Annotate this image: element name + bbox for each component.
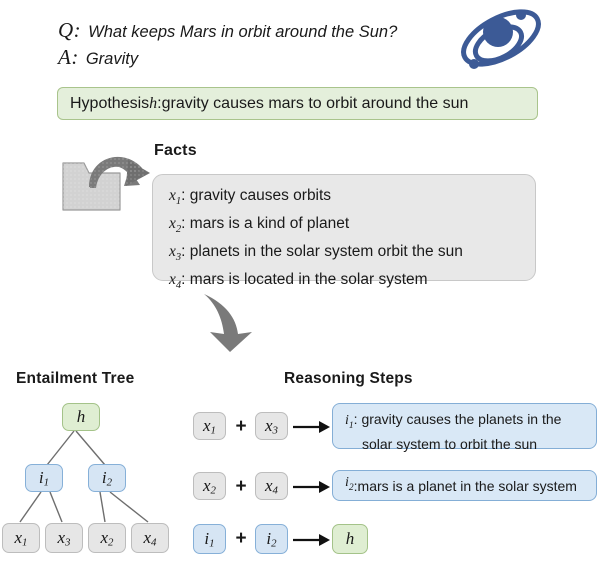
- step3-implies-arrow: [291, 525, 331, 555]
- step2-conclusion-box[interactable]: i2: mars is a planet in the solar system: [332, 470, 597, 501]
- tree-leaf-x2[interactable]: x2: [88, 523, 126, 553]
- fact-colon: :: [181, 187, 190, 204]
- fact-item: x3: planets in the solar system orbit th…: [169, 241, 535, 269]
- tree-node-label: x4: [144, 528, 157, 549]
- hypothesis-symbol: h: [149, 95, 157, 113]
- tree-node-label: x1: [15, 528, 28, 549]
- planet-orbit-icon: [458, 2, 544, 78]
- fact-symbol: x3: [169, 243, 181, 260]
- chip-label: i1: [204, 529, 214, 550]
- tree-leaf-x4[interactable]: x4: [131, 523, 169, 553]
- tree-node-label: x3: [58, 528, 71, 549]
- step1-conclusion-box[interactable]: i1: gravity causes the planets in the so…: [332, 403, 597, 449]
- answer-text: Gravity: [86, 50, 138, 69]
- fact-item: x2: mars is a kind of planet: [169, 213, 535, 241]
- hypothesis-box: Hypothesis h: gravity causes mars to orb…: [57, 87, 538, 120]
- step3-premise-1[interactable]: i1: [193, 524, 226, 554]
- conclusion-line2: solar system to orbit the sun: [345, 435, 586, 453]
- tree-leaf-x3[interactable]: x3: [45, 523, 83, 553]
- tree-node-label: h: [77, 407, 86, 427]
- question-tag: Q:: [58, 18, 81, 43]
- step2-premise-2[interactable]: x4: [255, 472, 288, 500]
- down-arrow-icon: [196, 292, 268, 354]
- entailment-tree-heading: Entailment Tree: [16, 370, 134, 388]
- tree-node-label: x2: [101, 528, 114, 549]
- answer-tag: A:: [58, 45, 79, 70]
- chip-label: x3: [265, 416, 278, 437]
- conclusion-line1: gravity causes the planets in the: [361, 411, 561, 427]
- fact-symbol: x1: [169, 187, 181, 204]
- fact-colon: :: [181, 215, 190, 232]
- qa-block: Q: What keeps Mars in orbit around the S…: [58, 18, 458, 70]
- hypothesis-text: gravity causes mars to orbit around the …: [162, 95, 469, 113]
- tree-node-root[interactable]: h: [62, 403, 100, 431]
- fact-symbol: x2: [169, 215, 181, 232]
- answer-line: A: Gravity: [58, 45, 458, 70]
- reasoning-steps-heading: Reasoning Steps: [284, 370, 413, 388]
- fact-symbol: x4: [169, 271, 181, 288]
- tree-node-i1[interactable]: i1: [25, 464, 63, 492]
- fact-colon: :: [181, 271, 190, 288]
- chip-label: x4: [265, 476, 278, 497]
- conclusion-symbol: i1: [345, 413, 354, 428]
- tree-leaf-x1[interactable]: x1: [2, 523, 40, 553]
- step1-premise-2[interactable]: x3: [255, 412, 288, 440]
- question-text: What keeps Mars in orbit around the Sun?: [88, 23, 397, 42]
- step2-implies-arrow: [291, 472, 331, 502]
- step2-premise-1[interactable]: x2: [193, 472, 226, 500]
- entailment-tree: h i1 i2 x1 x3 x2 x4: [0, 398, 185, 566]
- step1-plus: +: [233, 412, 249, 442]
- facts-source-graphic: [62, 142, 160, 224]
- facts-heading: Facts: [154, 142, 197, 160]
- step3-premise-2[interactable]: i2: [255, 524, 288, 554]
- chip-label: h: [346, 529, 355, 549]
- chip-label: x2: [203, 476, 216, 497]
- question-line: Q: What keeps Mars in orbit around the S…: [58, 18, 458, 43]
- step1-implies-arrow: [291, 412, 331, 442]
- chip-label: x1: [203, 416, 216, 437]
- fact-item: x1: gravity causes orbits: [169, 185, 535, 213]
- reasoning-steps: x1 + x3 i1: gravity causes the planets i…: [186, 398, 606, 566]
- fact-text: mars is a kind of planet: [190, 215, 349, 232]
- tree-node-label: i2: [102, 468, 112, 489]
- step2-plus: +: [233, 472, 249, 502]
- facts-box: x1: gravity causes orbits x2: mars is a …: [152, 174, 536, 281]
- conclusion-symbol: i2: [345, 474, 354, 497]
- chip-label: i2: [266, 529, 276, 550]
- step1-premise-1[interactable]: x1: [193, 412, 226, 440]
- tree-node-label: i1: [39, 468, 49, 489]
- fact-colon: :: [181, 243, 190, 260]
- tree-node-i2[interactable]: i2: [88, 464, 126, 492]
- fact-text: mars is located in the solar system: [190, 271, 428, 288]
- step3-plus: +: [233, 524, 249, 554]
- fact-text: planets in the solar system orbit the su…: [190, 243, 463, 260]
- hypothesis-prefix: Hypothesis: [70, 95, 149, 113]
- step3-conclusion-chip[interactable]: h: [332, 524, 368, 554]
- conclusion-line1: mars is a planet in the solar system: [358, 477, 577, 495]
- fact-text: gravity causes orbits: [190, 187, 331, 204]
